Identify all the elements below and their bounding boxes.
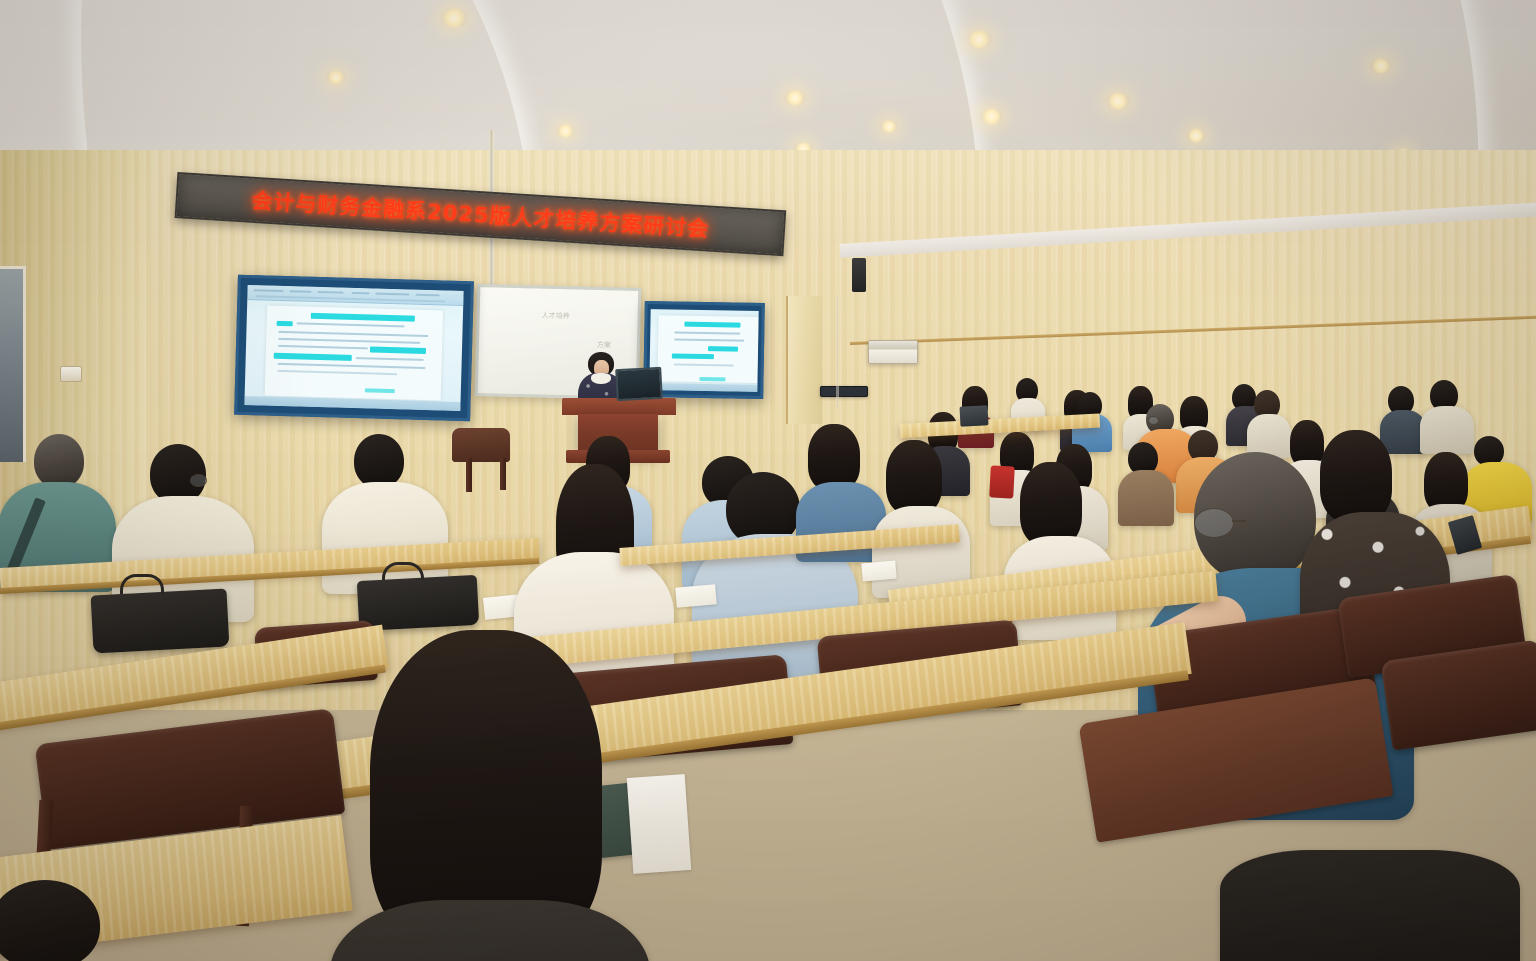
downlight (326, 70, 346, 85)
red-handbag (989, 465, 1015, 498)
support-pole (836, 296, 839, 408)
whiteboard-writing: 人才培养 (542, 311, 570, 322)
ceiling-speaker (852, 258, 866, 292)
whiteboard-writing: 方案 (597, 340, 611, 350)
downlight (1186, 128, 1206, 143)
paper-handout (675, 584, 717, 607)
paper-handout (627, 774, 692, 874)
document-page (265, 305, 443, 400)
chair-leg (500, 458, 506, 490)
wall-ac-vent (868, 340, 918, 364)
light-switch-plate[interactable] (60, 366, 82, 382)
highlighted-text (274, 352, 352, 360)
presenter-collar (591, 373, 611, 384)
document-page (658, 315, 758, 383)
highlighted-text (685, 321, 741, 327)
document-status-bar (650, 383, 757, 391)
paper-handout (861, 561, 896, 582)
torso (330, 900, 650, 961)
highlighted-text (700, 376, 726, 380)
downlight (440, 8, 468, 28)
spare-chair[interactable] (452, 428, 510, 462)
laptop-bag (91, 588, 230, 653)
laptop-bag (357, 575, 479, 631)
conference-room-photo: 会计与财务金融系2025版人才培养方案研讨会 人才培养 方案 (0, 0, 1536, 961)
highlighted-text (672, 353, 714, 359)
left-screen-document (244, 285, 463, 412)
downlight (1106, 92, 1130, 110)
downlight (980, 108, 1003, 125)
right-screen-document (650, 309, 759, 392)
highlighted-text (276, 321, 292, 326)
wall-sign (820, 386, 868, 397)
lectern-monitor (615, 367, 663, 401)
left-projection-screen (234, 275, 474, 422)
glasses (190, 474, 207, 487)
glasses (1194, 508, 1234, 538)
wall-door-panel[interactable] (786, 296, 822, 424)
doorway[interactable] (0, 266, 26, 462)
chair-leg (466, 458, 472, 492)
bag-handle (120, 574, 164, 594)
laptop (959, 405, 988, 426)
document-toolbar (247, 285, 464, 307)
downlight (556, 124, 575, 138)
glasses (1148, 416, 1159, 425)
downlight (880, 120, 898, 133)
downlight (1370, 58, 1392, 74)
highlighted-text (311, 312, 415, 321)
highlighted-text (370, 346, 426, 354)
downlight (784, 90, 806, 106)
bag-handle (382, 562, 424, 580)
highlighted-text (708, 346, 738, 352)
downlight (966, 30, 992, 49)
